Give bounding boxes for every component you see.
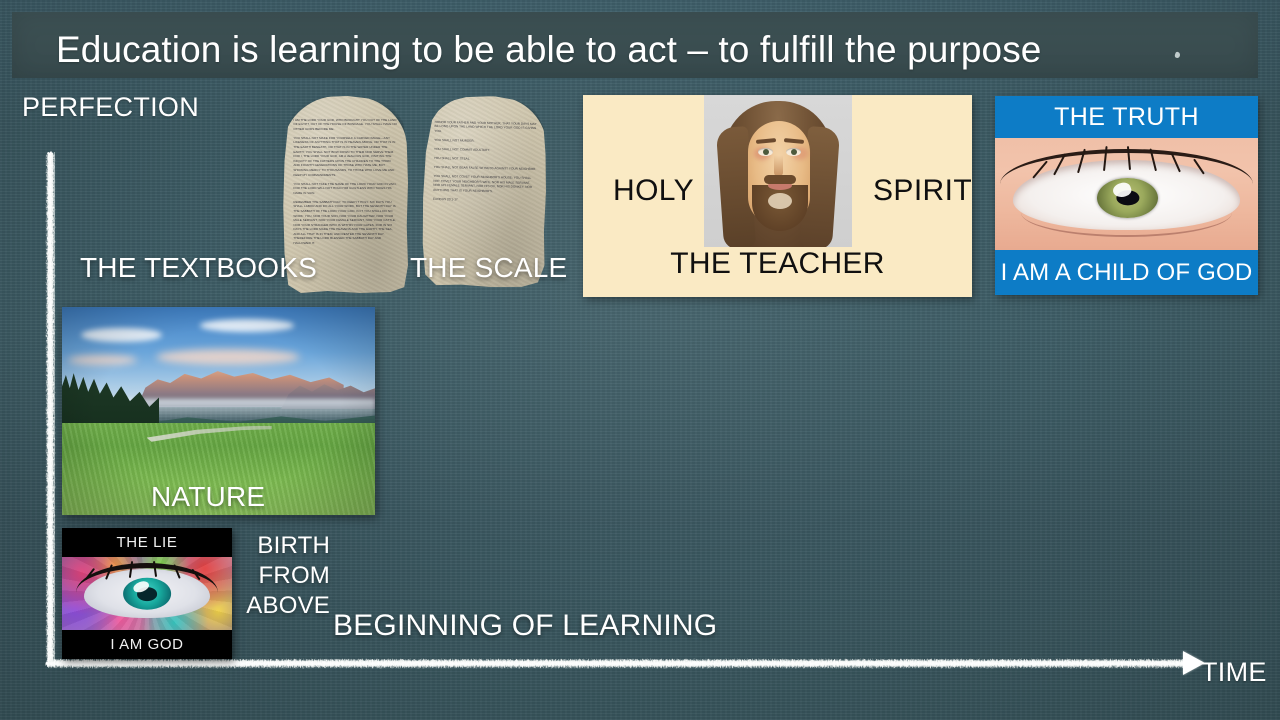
x-axis-label: TIME [1201, 657, 1267, 688]
green-eye-image [995, 138, 1258, 250]
title-band: Education is learning to be able to act … [12, 12, 1258, 78]
lie-bottom-text: I AM GOD [110, 636, 183, 653]
commandment-text: HONOR YOUR FATHER AND YOUR MOTHER, THAT … [434, 120, 537, 136]
commandment-text: YOU SHALL NOT BEAR FALSE WITNESS AGAINST… [434, 165, 537, 172]
commandment-text: REMEMBER THE SABBATH DAY, TO KEEP IT HOL… [293, 200, 398, 246]
truth-bottom-text: I AM A CHILD OF GOD [1001, 259, 1253, 287]
truth-top-text: THE TRUTH [1054, 103, 1199, 132]
commandment-text: YOU SHALL NOT MURDER. [434, 138, 537, 145]
birth-from-above-label: BIRTH FROM ABOVE [200, 531, 330, 621]
moustache [764, 175, 796, 184]
beginning-of-learning-label: BEGINNING OF LEARNING [333, 609, 717, 643]
holy-word: HOLY [613, 174, 694, 208]
tablet-right-text: HONOR YOUR FATHER AND YOUR MOTHER, THAT … [433, 120, 538, 208]
birth-line-2: FROM [200, 561, 330, 591]
upper-eyelid [1000, 149, 1252, 184]
truth-top-banner: THE TRUTH [995, 96, 1258, 138]
eye-right [786, 148, 801, 156]
y-axis-label: PERFECTION [22, 92, 199, 123]
commandment-text: YOU SHALL NOT MAKE FOR YOURSELF A CARVED… [293, 136, 398, 177]
y-axis-line [46, 152, 55, 666]
textbooks-label: THE TEXTBOOKS [80, 252, 317, 284]
nature-label: NATURE [151, 481, 265, 513]
scripture-reference: EXODUS 20:1-17 [433, 197, 536, 204]
teacher-panel: HOLY SPIRIT THE TEACHER [583, 95, 972, 297]
lie-bottom-banner: I AM GOD [62, 630, 232, 659]
dust-speck-decoration [1174, 51, 1181, 58]
jesus-portrait-image [704, 95, 852, 247]
eye-left [758, 148, 773, 156]
commandment-text: YOU SHALL NOT TAKE THE NAME OF THE LORD … [293, 182, 398, 196]
lower-eyelid [1021, 212, 1231, 236]
commandment-text: I AM THE LORD YOUR GOD, WHO BROUGHT YOU … [293, 118, 398, 132]
slide-canvas: Education is learning to be able to act … [0, 0, 1280, 720]
scale-label: THE SCALE [410, 252, 567, 284]
commandment-text: YOU SHALL NOT COVET YOUR NEIGHBOR'S HOUS… [433, 174, 536, 195]
page-title: Education is learning to be able to act … [56, 28, 1041, 72]
truth-panel: THE TRUTH I AM A CHILD OF GOD [995, 96, 1258, 295]
birth-line-1: BIRTH [200, 531, 330, 561]
nose [774, 155, 783, 177]
spirit-word: SPIRIT [873, 174, 972, 208]
teacher-caption: THE TEACHER [583, 247, 972, 281]
birth-line-3: ABOVE [200, 591, 330, 621]
commandment-text: YOU SHALL NOT COMMIT ADULTERY. [434, 147, 537, 154]
lie-top-text: THE LIE [117, 534, 178, 551]
truth-bottom-banner: I AM A CHILD OF GOD [995, 250, 1258, 295]
tablet-left-text: I AM THE LORD YOUR GOD, WHO BROUGHT YOU … [293, 118, 398, 250]
commandment-text: YOU SHALL NOT STEAL. [434, 156, 537, 163]
x-axis-line [46, 659, 1189, 668]
